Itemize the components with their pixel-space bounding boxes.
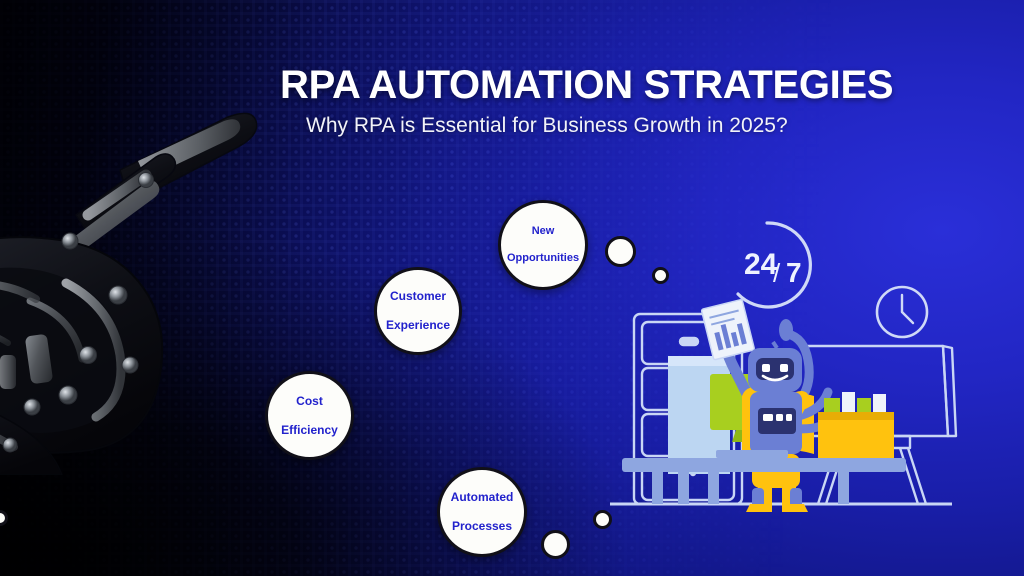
bubble-cost-efficiency[interactable]: Cost Efficiency [265,371,354,460]
bubble-label-line2: Opportunities [501,252,585,265]
bubble-dot-large-lower [541,530,570,559]
bubble-dot-small-lower [593,510,612,529]
page-title: RPA AUTOMATION STRATEGIES [280,64,980,106]
slide-root: RPA AUTOMATION STRATEGIES Why RPA is Ess… [0,0,1024,576]
file-folder-box [818,392,894,458]
bubble-customer-experience[interactable]: Customer Experience [374,267,462,355]
bubble-label-line1: New [501,225,585,238]
robot-office-illustration [600,196,1000,541]
page-subtitle: Why RPA is Essential for Business Growth… [306,111,866,141]
bubble-label-line2: Experience [380,318,456,333]
bubble-label-line2: Processes [445,519,520,534]
bubble-label-line1: Customer [380,289,456,304]
bubble-label-line2: Efficiency [275,423,344,438]
robotic-hand-photo [0,55,260,475]
bubble-dot-small-upper [652,267,669,284]
bubble-dot-large-upper [605,236,636,267]
bubble-new-opportunities[interactable]: New Opportunities [498,200,588,290]
bubble-label-line1: Cost [275,394,344,409]
bubble-label-line1: Automated [445,490,520,505]
bubble-automated-processes[interactable]: Automated Processes [437,467,527,557]
